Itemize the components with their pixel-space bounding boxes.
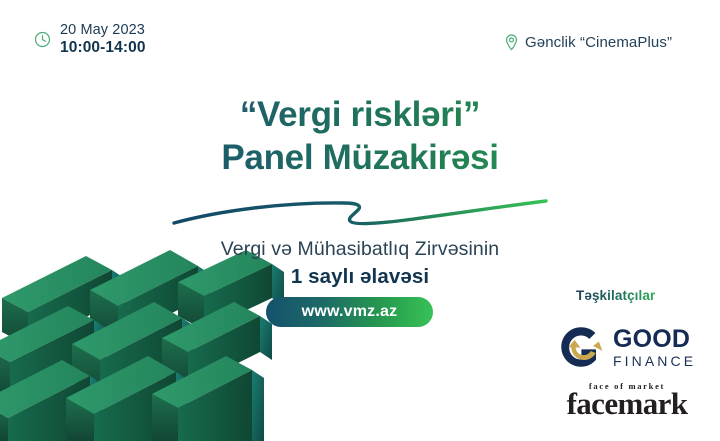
event-time: 10:00-14:00 xyxy=(60,39,146,57)
event-date: 20 May 2023 xyxy=(60,22,146,39)
facemark-wordmark: facemark xyxy=(562,388,692,421)
location-text: Gənclik “CinemaPlus” xyxy=(525,34,672,51)
clock-icon xyxy=(34,31,51,48)
subtitle-line-1: Vergi və Mühasibatlıq Zirvəsinin xyxy=(0,238,720,261)
website-url-button[interactable]: www.vmz.az xyxy=(266,297,433,327)
subtitle-line-2: 1 saylı əlavəsi xyxy=(0,265,720,289)
map-pin-icon xyxy=(504,34,519,51)
organizers-label: Təşkilatçılar xyxy=(576,288,655,303)
good-finance-secondary: FINANCE xyxy=(613,354,696,368)
logo-facemark: face of market facemark xyxy=(562,381,692,421)
logo-good-finance: GOOD FINANCE xyxy=(556,322,696,372)
g-arrow-icon xyxy=(556,322,606,372)
event-promo-banner: 20 May 2023 10:00-14:00 Gənclik “CinemaP… xyxy=(0,0,720,441)
squiggle-underline-icon xyxy=(168,190,552,234)
website-url-label: www.vmz.az xyxy=(302,303,398,321)
event-datetime: 20 May 2023 10:00-14:00 xyxy=(34,22,146,57)
event-location: Gənclik “CinemaPlus” xyxy=(504,34,672,51)
page-title: “Vergi riskləri” Panel Müzakirəsi xyxy=(0,93,720,179)
good-finance-primary: GOOD xyxy=(613,327,696,352)
